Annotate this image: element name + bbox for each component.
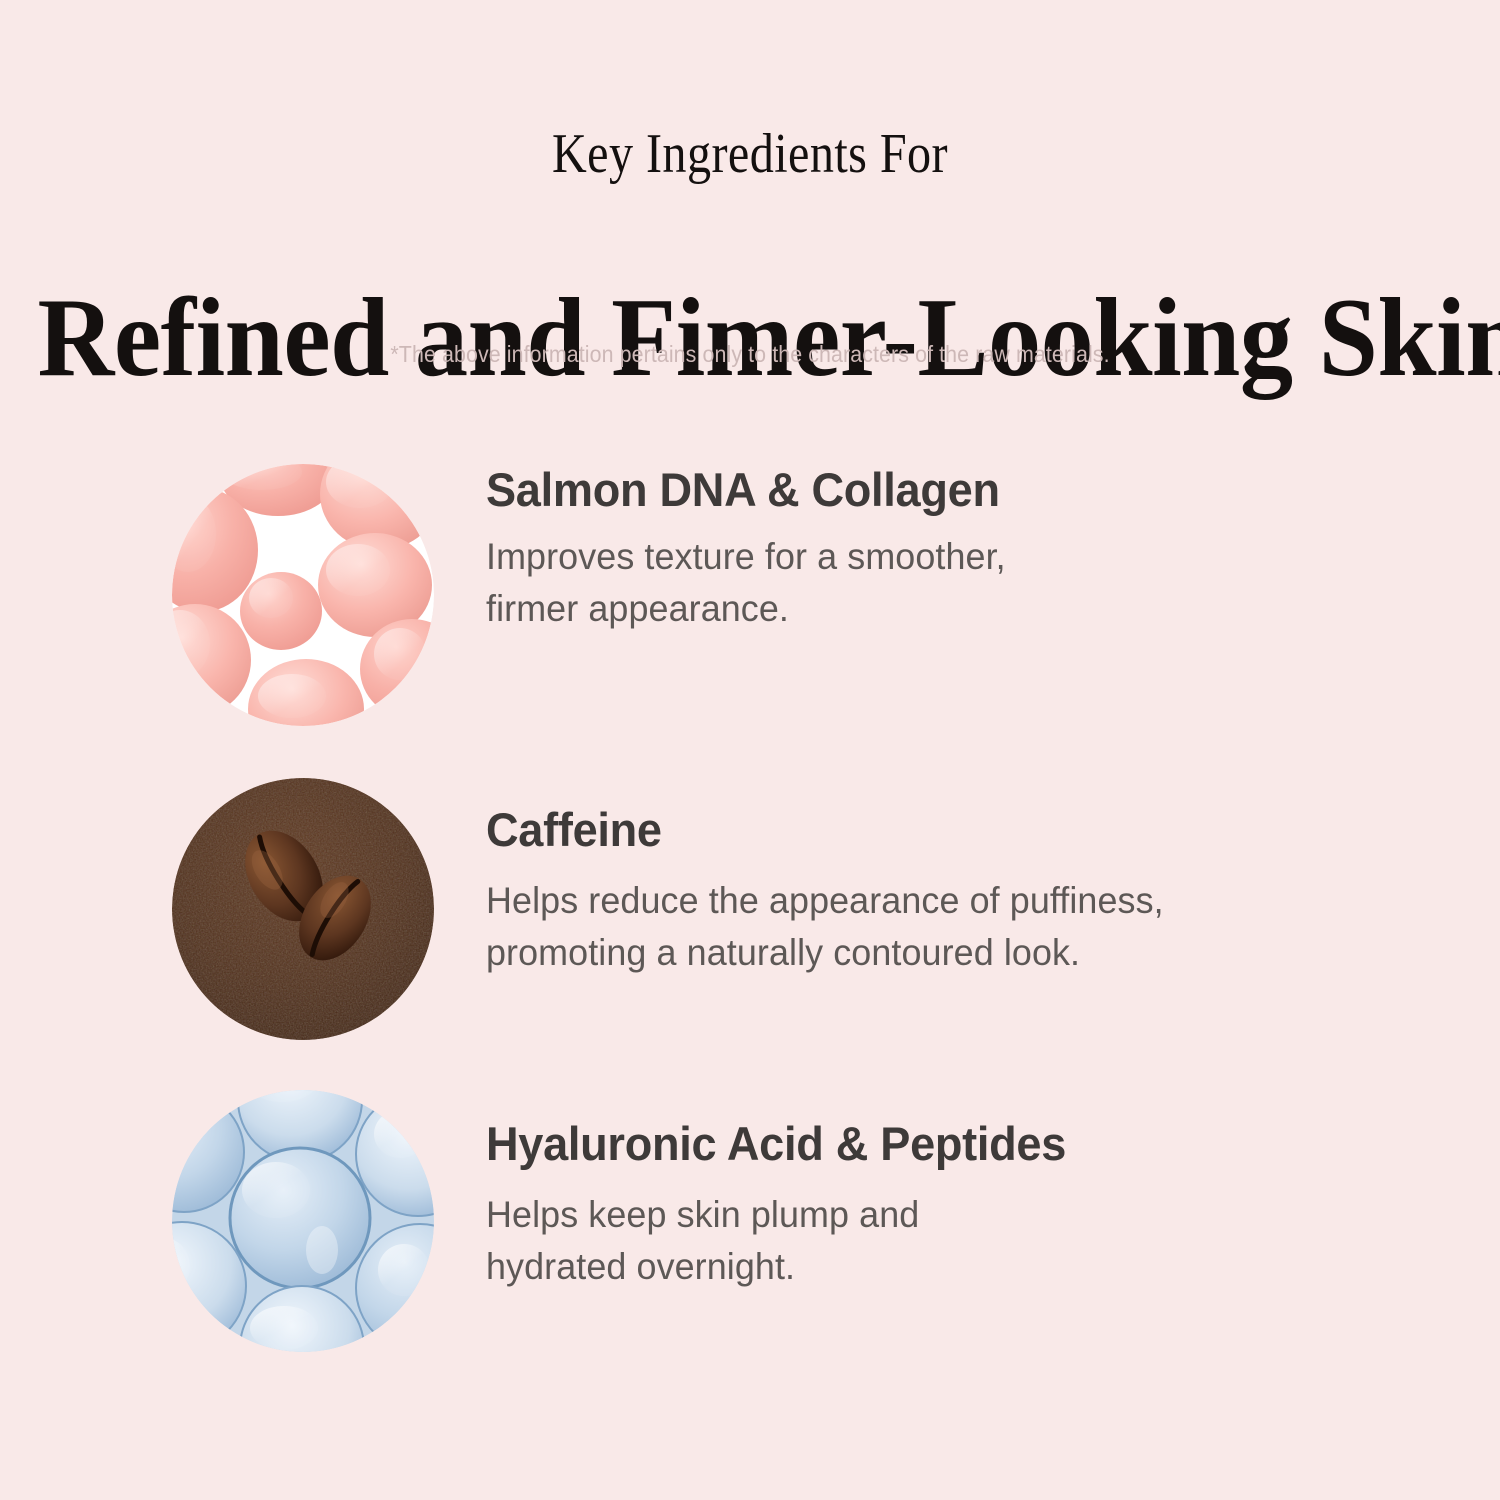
ingredient-description: Helps reduce the appearance of puffiness… <box>486 875 1388 980</box>
ingredient-description: Helps keep skin plump and hydrated overn… <box>486 1189 1388 1294</box>
ingredient-text: Hyaluronic Acid & Peptides Helps keep sk… <box>486 1090 1416 1294</box>
list-item: Salmon DNA & Collagen Improves texture f… <box>172 464 1422 726</box>
list-item: Caffeine Helps reduce the appearance of … <box>172 778 1422 1040</box>
ingredient-list: Salmon DNA & Collagen Improves texture f… <box>0 0 1500 1500</box>
ground-coffee-beans-photo <box>172 778 434 1040</box>
ingredient-text: Salmon DNA & Collagen Improves texture f… <box>486 464 1416 636</box>
ingredient-title: Hyaluronic Acid & Peptides <box>486 1118 1379 1171</box>
blue-hydration-bubbles-photo <box>172 1090 434 1352</box>
ingredient-description: Improves texture for a smoother, firmer … <box>486 531 1388 636</box>
ingredients-infographic: Key Ingredients For Refined and Fimer-Lo… <box>0 0 1500 1500</box>
ingredient-title: Salmon DNA & Collagen <box>486 464 1379 517</box>
pink-collagen-capsules-photo <box>172 464 434 726</box>
list-item: Hyaluronic Acid & Peptides Helps keep sk… <box>172 1090 1422 1352</box>
ingredient-title: Caffeine <box>486 804 1379 857</box>
ingredient-text: Caffeine Helps reduce the appearance of … <box>486 778 1416 980</box>
